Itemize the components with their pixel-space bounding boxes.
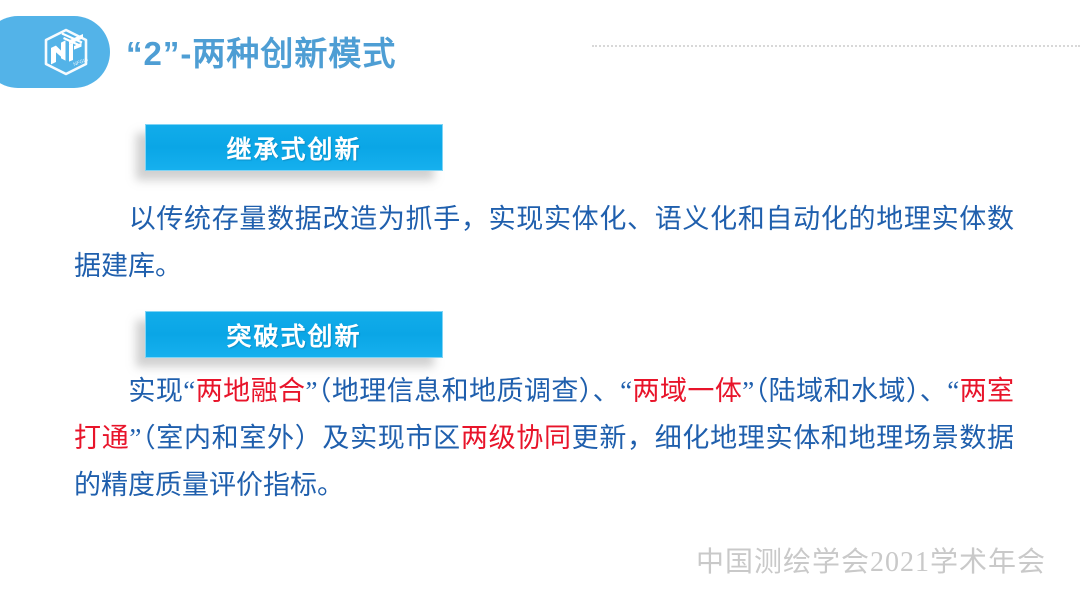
paragraph-run: 实现“ (128, 376, 195, 406)
section-paragraph-inheritance: 以传统存量数据改造为抓手，实现实体化、语义化和自动化的地理实体数据建库。 (74, 196, 1014, 290)
section-banner-inheritance: 继承式创新 (145, 124, 443, 171)
paragraph-run-highlight: 两域一体 (632, 376, 742, 406)
paragraph-run-highlight: 两地融合 (195, 376, 305, 406)
paragraph-run: ”（室内和室外）及实现市区 (129, 423, 460, 453)
banner-label: 突破式创新 (226, 317, 361, 353)
header-divider (592, 45, 1080, 47)
footer-conference-name: 中国测绘学会2021学术年会 (696, 540, 1046, 580)
paragraph-run: ”（地理信息和地质调查）、“ (305, 376, 632, 406)
slide-header: NFGIS “2”-两种创新模式 (0, 0, 1080, 100)
page-title: “2”-两种创新模式 (126, 27, 396, 75)
banner-label: 继承式创新 (226, 130, 361, 166)
paragraph-run: ”（陆域和水域）、“ (742, 376, 959, 406)
section-paragraph-breakthrough: 实现“两地融合”（地理信息和地质调查）、“两域一体”（陆域和水域）、“两室打通”… (74, 368, 1014, 509)
slide-canvas: NFGIS “2”-两种创新模式 继承式创新 以传统存量数据改造为抓手，实现实体… (0, 0, 1080, 607)
paragraph-run-highlight: 两级协同 (461, 423, 572, 453)
section-banner-breakthrough: 突破式创新 (145, 311, 443, 358)
nf-cube-logo-icon: NFGIS (38, 24, 94, 80)
paragraph-run: 以传统存量数据改造为抓手，实现实体化、语义化和自动化的地理实体数据建库。 (74, 204, 1014, 281)
